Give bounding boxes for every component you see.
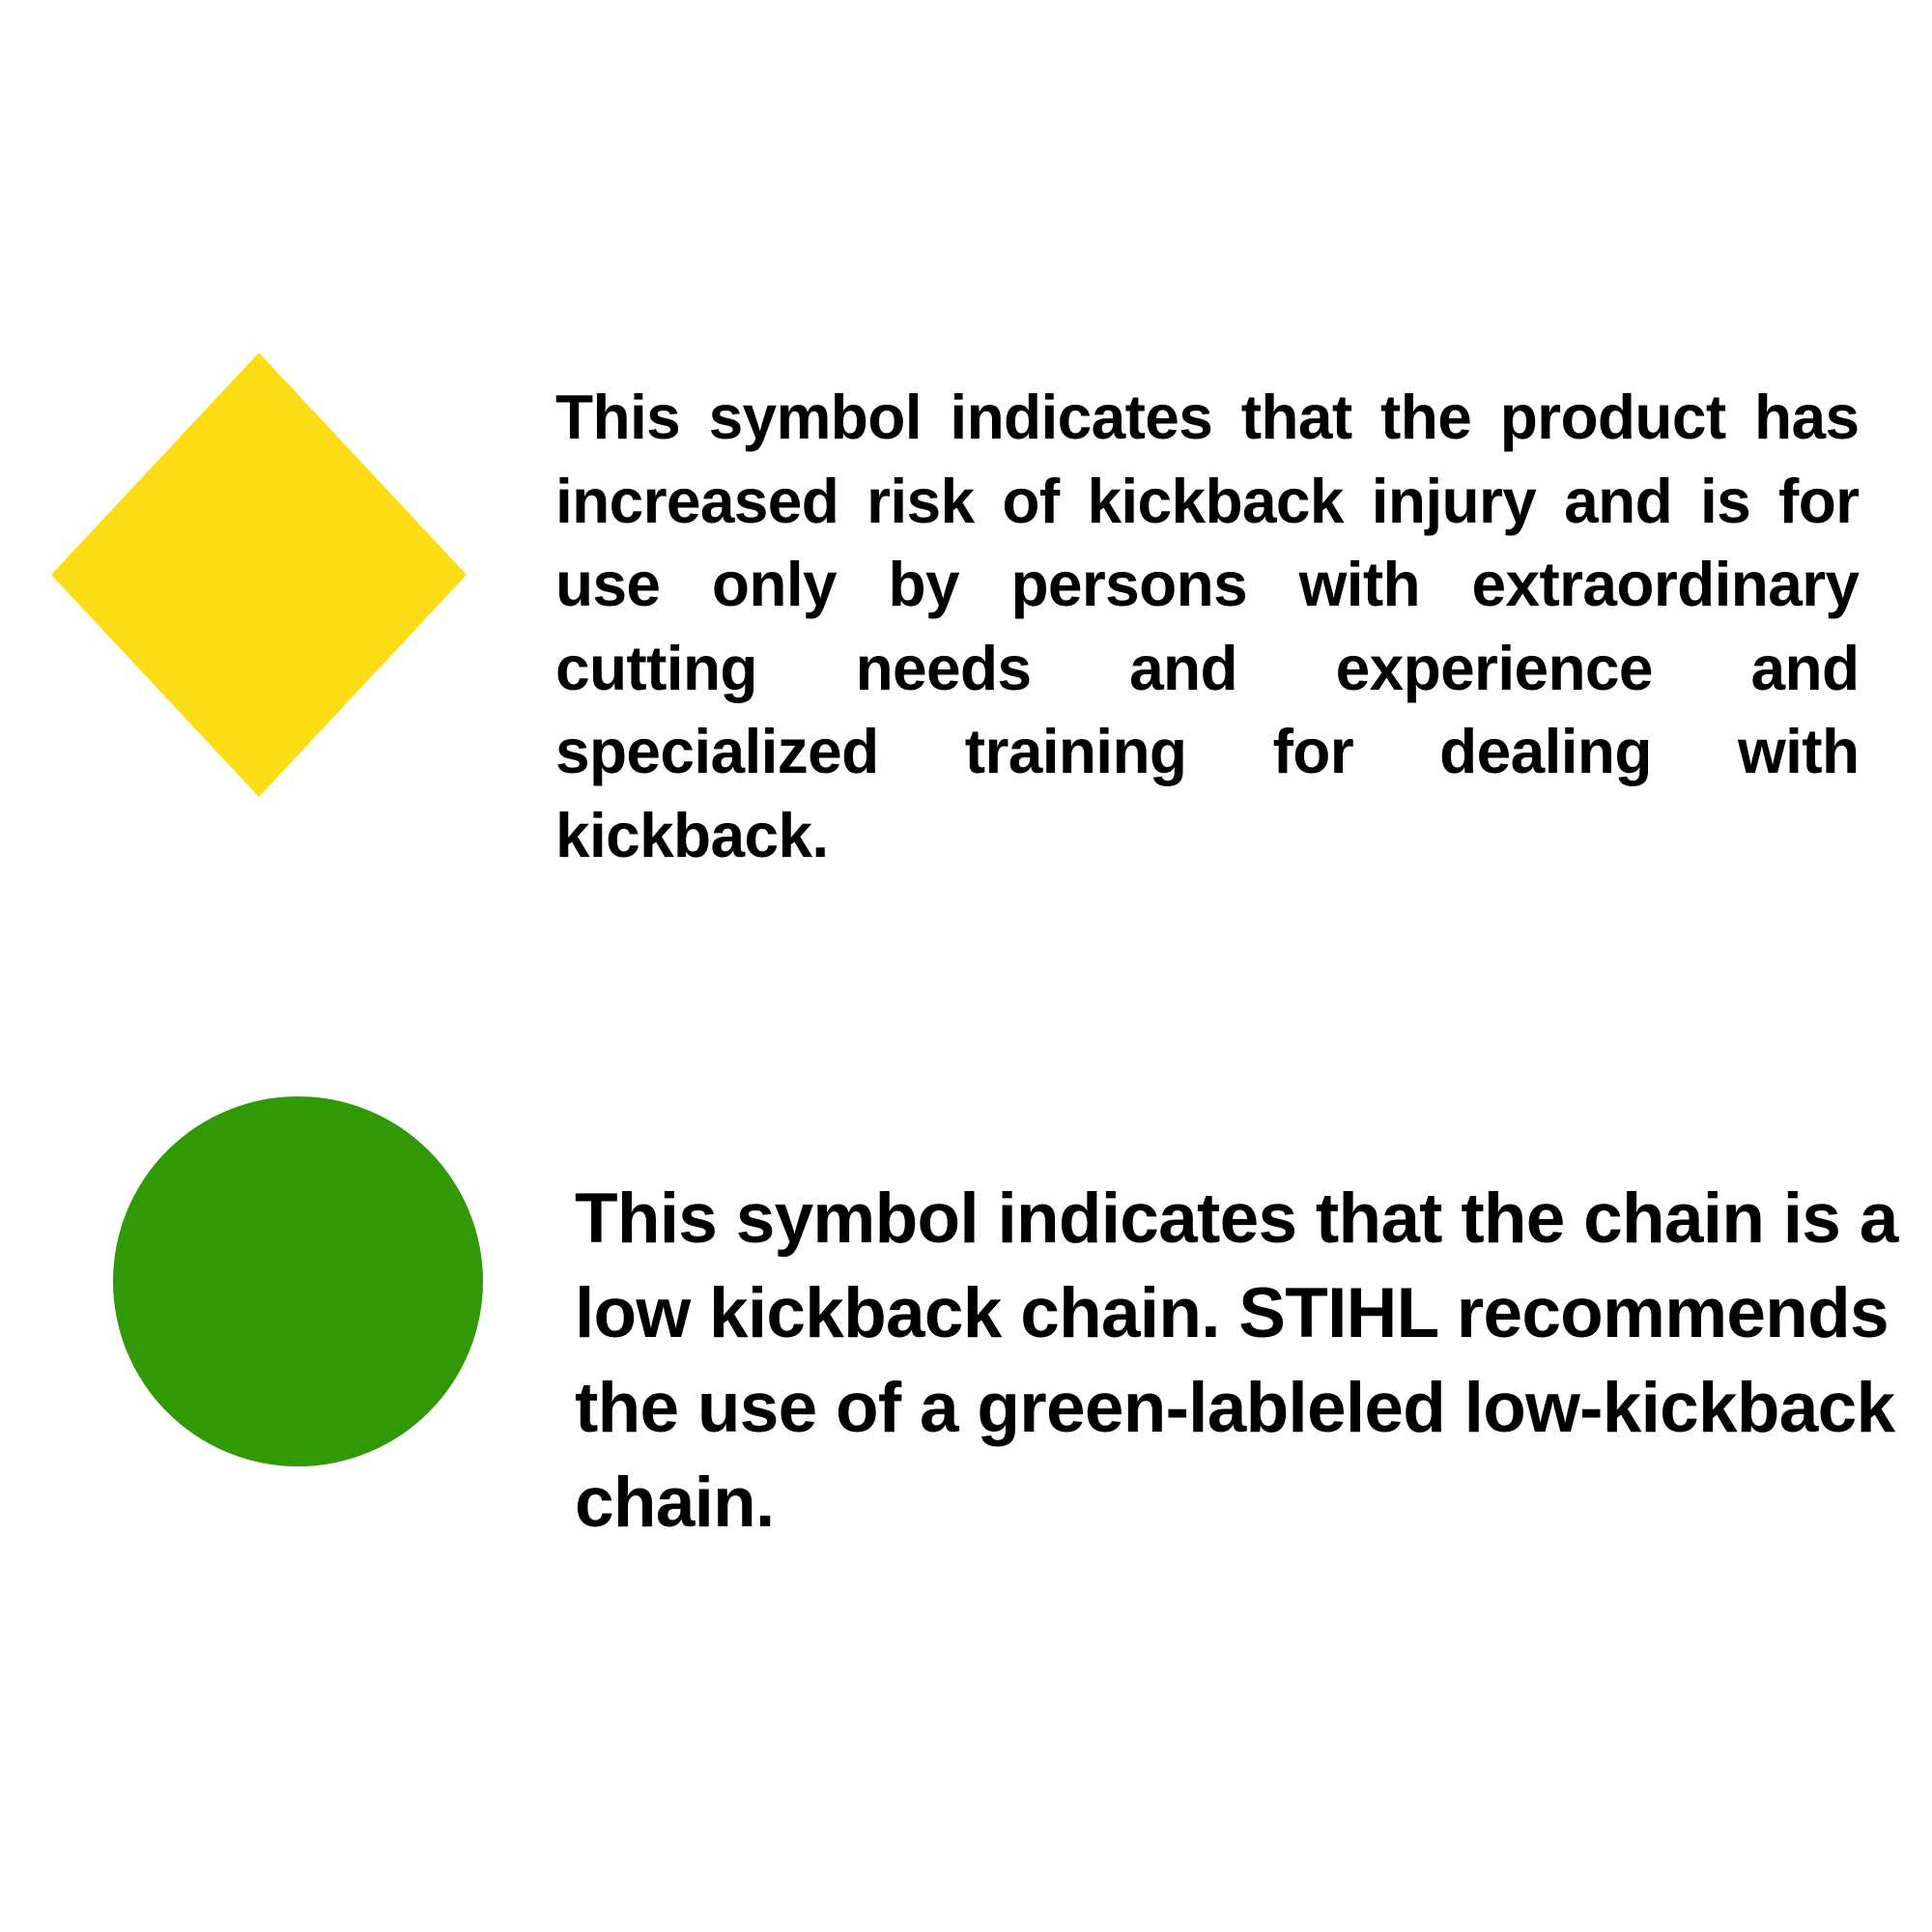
kickback-warning-text: This symbol indicates that the product h…	[555, 376, 1859, 878]
legend-row-kickback-warning: This symbol indicates that the product h…	[0, 290, 1932, 869]
yellow-diamond-symbol	[51, 353, 467, 797]
low-kickback-text: This symbol indicates that the chain is …	[575, 1172, 1908, 1550]
legend-row-low-kickback: This symbol indicates that the chain is …	[0, 1063, 1932, 1507]
legend-page: This symbol indicates that the product h…	[0, 0, 1932, 1932]
green-circle-symbol	[113, 1096, 483, 1466]
